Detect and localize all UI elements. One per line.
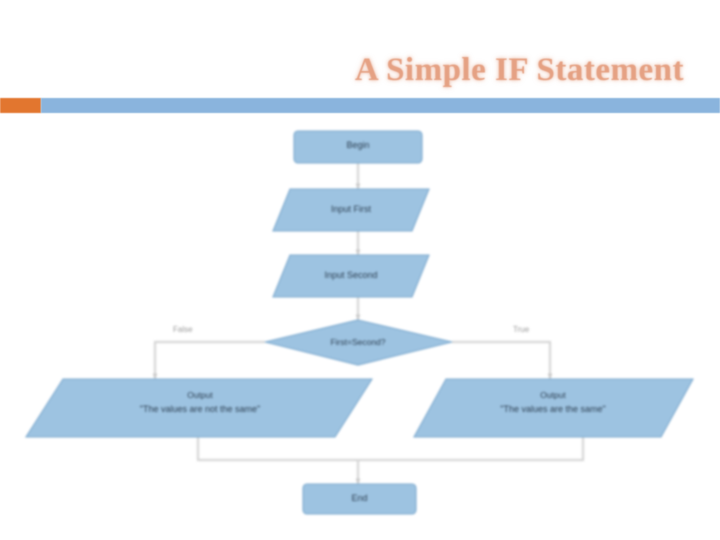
node-end-shape[interactable] [303, 484, 416, 514]
node-begin-shape[interactable] [294, 131, 422, 163]
connector-output-false-to-merge [198, 437, 358, 460]
node-input-second-shape[interactable] [273, 255, 429, 297]
node-input-first-shape[interactable] [273, 189, 429, 231]
node-decision-shape[interactable] [265, 320, 452, 365]
connector-output-true-to-merge [358, 437, 583, 460]
node-output-false-shape[interactable] [26, 379, 372, 437]
branch-label-false: False [173, 325, 193, 334]
slide-canvas: A Simple IF Statement [0, 0, 720, 540]
flowchart-diagram: Begin Input First Input Second First=Sec… [0, 0, 720, 540]
shape-group [26, 131, 693, 514]
connector-decision-false-branch [155, 342, 265, 379]
node-output-true-shape[interactable] [414, 379, 693, 437]
branch-label-true: True [513, 325, 529, 334]
connector-decision-true-branch [452, 342, 550, 379]
flowchart-svg [0, 0, 720, 540]
